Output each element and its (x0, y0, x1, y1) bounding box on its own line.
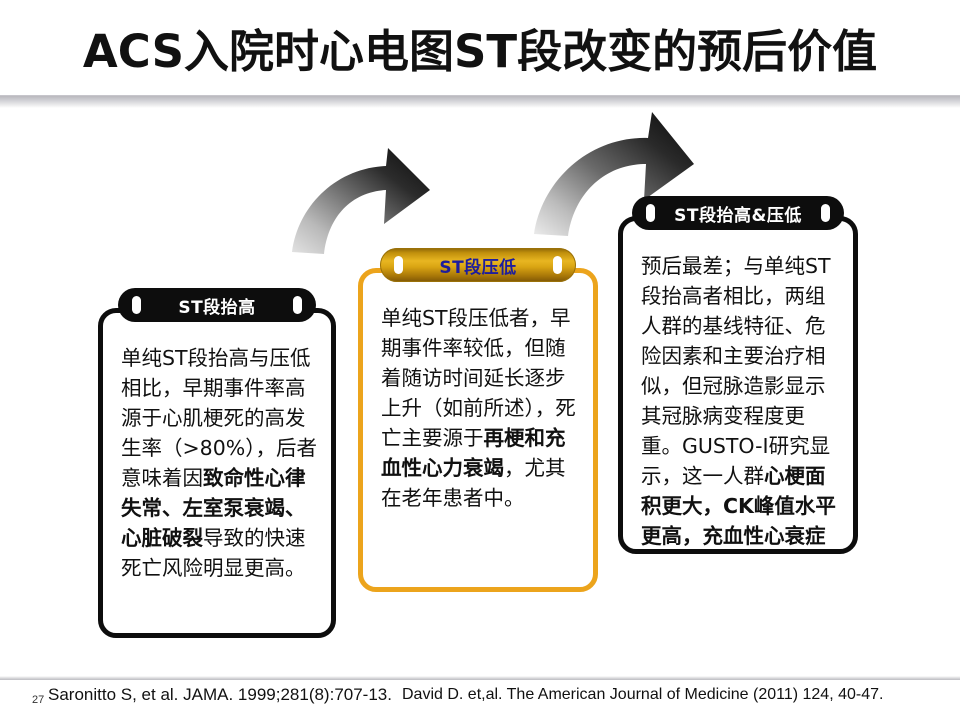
callout-body-inner-st-elevation: 单纯ST段抬高与压低相比，早期事件率高源于心肌梗死的高发生率（>80%），后者意… (103, 313, 331, 633)
callout-st-elevation: 单纯ST段抬高与压低相比，早期事件率高源于心肌梗死的高发生率（>80%），后者意… (98, 288, 336, 638)
slide: ACS入院时心电图ST段改变的预后价值 (0, 0, 960, 720)
plaque-hole-left-icon (646, 204, 655, 222)
reference-left: Saronitto S, et al. JAMA. 1999;281(8):70… (48, 685, 392, 705)
page-title: ACS入院时心电图ST段改变的预后价值 (0, 26, 960, 78)
callout-header-st-elevation: ST段抬高 (118, 288, 316, 322)
slide-number: 27 (32, 694, 44, 706)
callout-text-st-both: 预后最差；与单纯ST段抬高者相比，两组人群的基线特征、危险因素和主要治疗相似，但… (641, 251, 839, 549)
callout-body-inner-st-depression: 单纯ST段压低者，早期事件率较低，但随着随访时间延长逐步上升（如前所述），死亡主… (363, 273, 593, 587)
callout-body-st-elevation: 单纯ST段抬高与压低相比，早期事件率高源于心肌梗死的高发生率（>80%），后者意… (98, 308, 336, 638)
callout-body-st-both: 预后最差；与单纯ST段抬高者相比，两组人群的基线特征、危险因素和主要治疗相似，但… (618, 216, 858, 554)
callout-header-st-depression: ST段压低 (380, 248, 576, 282)
title-area: ACS入院时心电图ST段改变的预后价值 (0, 0, 960, 96)
curved-arrow-icon-left (288, 128, 468, 258)
footer: 27 Saronitto S, et al. JAMA. 1999;281(8)… (0, 676, 960, 720)
callout-text-st-depression: 单纯ST段压低者，早期事件率较低，但随着随访时间延长逐步上升（如前所述），死亡主… (381, 303, 579, 513)
callout-text-st-elevation: 单纯ST段抬高与压低相比，早期事件率高源于心肌梗死的高发生率（>80%），后者意… (121, 343, 317, 583)
callout-st-depression: 单纯ST段压低者，早期事件率较低，但随着随访时间延长逐步上升（如前所述），死亡主… (358, 248, 598, 592)
plaque-hole-right-icon (293, 296, 302, 314)
reference-right: David D. et,al. The American Journal of … (402, 686, 883, 704)
callout-header-label-st-depression: ST段压低 (439, 253, 516, 278)
callout-header-label-st-both: ST段抬高&压低 (674, 201, 802, 226)
plaque-hole-left-icon (132, 296, 141, 314)
plaque-hole-left-icon (394, 256, 403, 274)
callout-header-label-st-elevation: ST段抬高 (178, 293, 255, 318)
footer-rule (0, 676, 960, 680)
plaque-hole-right-icon (821, 204, 830, 222)
callout-body-inner-st-both: 预后最差；与单纯ST段抬高者相比，两组人群的基线特征、危险因素和主要治疗相似，但… (623, 221, 853, 549)
callout-body-st-depression: 单纯ST段压低者，早期事件率较低，但随着随访时间延长逐步上升（如前所述），死亡主… (358, 268, 598, 592)
title-divider (0, 96, 960, 108)
callout-header-st-both: ST段抬高&压低 (632, 196, 844, 230)
callout-st-both: 预后最差；与单纯ST段抬高者相比，两组人群的基线特征、危险因素和主要治疗相似，但… (618, 196, 858, 554)
plaque-hole-right-icon (553, 256, 562, 274)
